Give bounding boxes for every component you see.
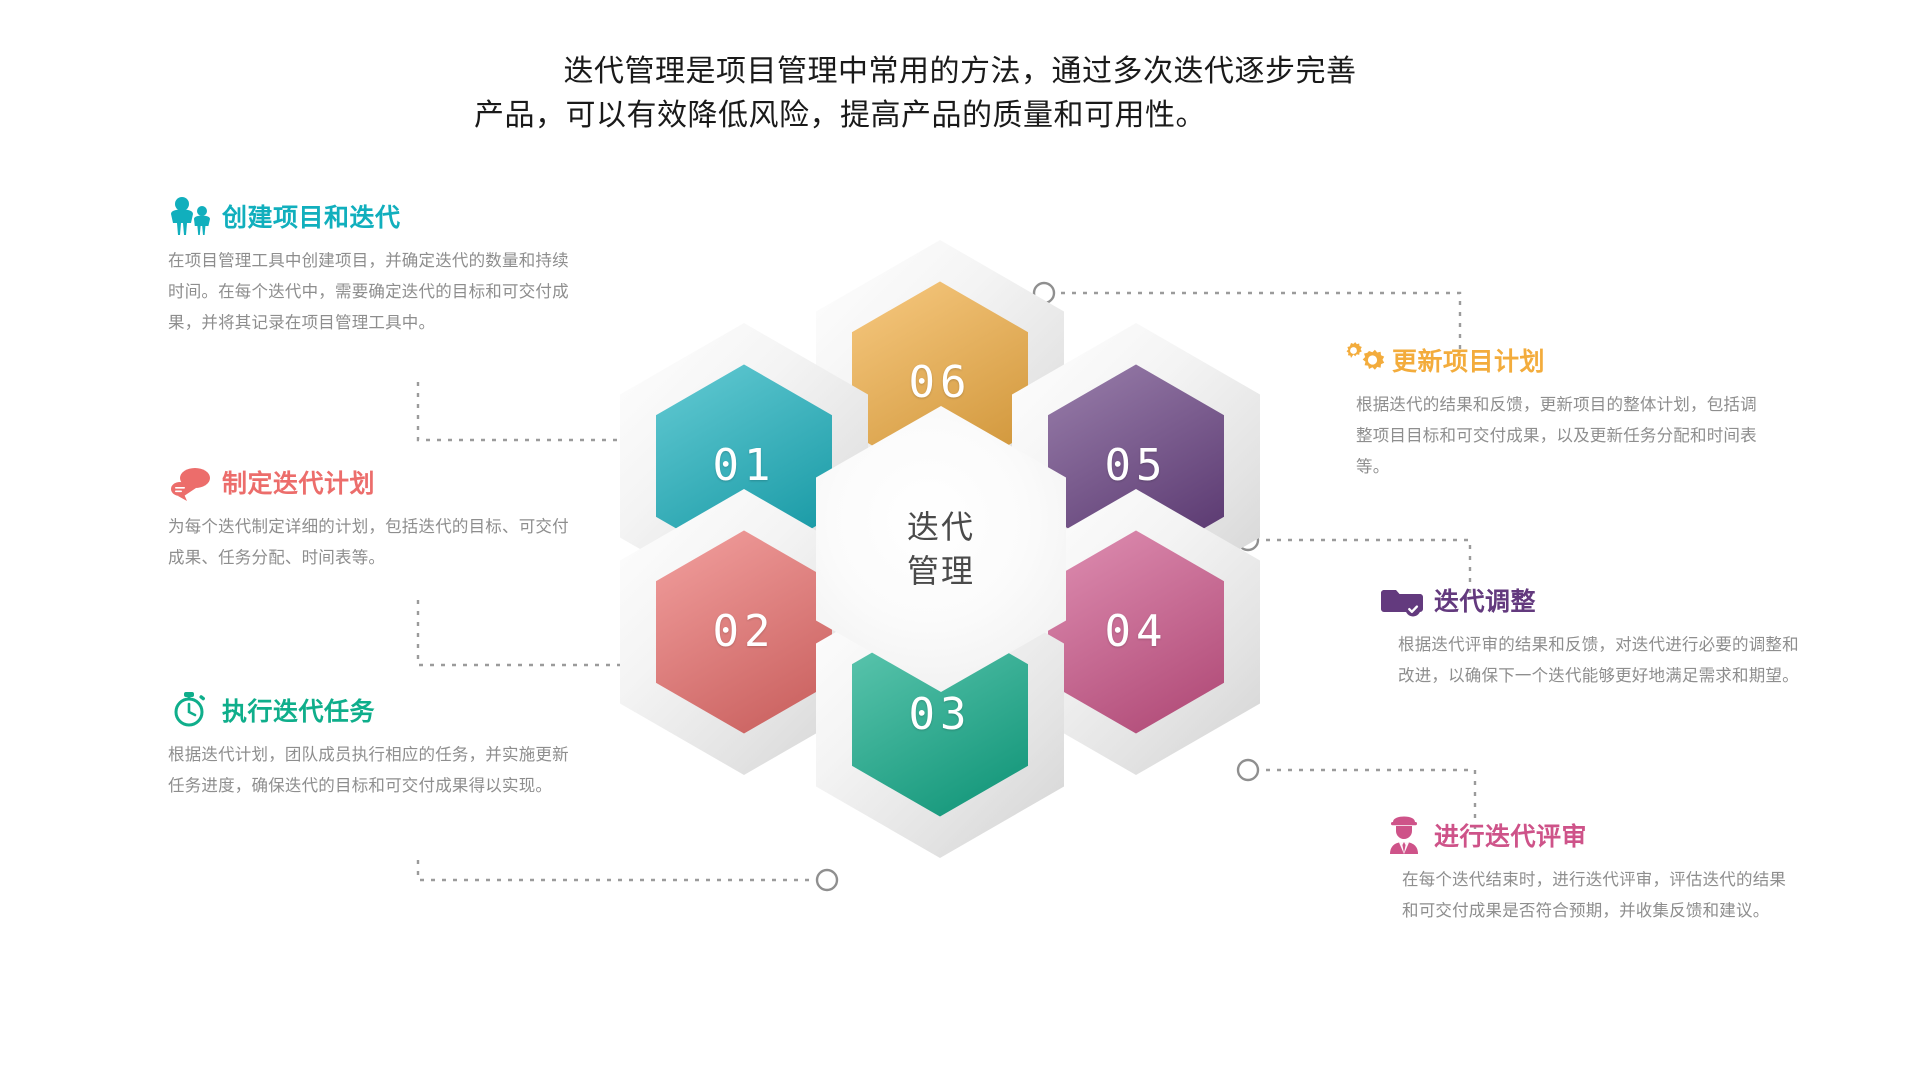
center-label-line2: 管理: [907, 549, 975, 593]
section-header: 迭代调整: [1372, 580, 1802, 620]
section-body: 根据迭代计划，团队成员执行相应的任务，并实施更新任务进度，确保迭代的目标和可交付…: [168, 740, 583, 802]
gears-icon: [1338, 340, 1380, 380]
speech-bubble-icon: [168, 462, 210, 502]
section-review: 进行迭代评审 在每个迭代结束时，进行迭代评审，评估迭代的结果和可交付成果是否符合…: [1372, 815, 1802, 927]
section-adjust: 迭代调整 根据迭代评审的结果和反馈，对迭代进行必要的调整和改进，以确保下一个迭代…: [1372, 580, 1802, 692]
stopwatch-icon: [168, 690, 210, 730]
hexagon-number: 03: [909, 689, 972, 740]
page-title-line2: 产品，可以有效降低风险，提高产品的质量和可用性。: [460, 94, 1460, 138]
section-header: 执行迭代任务: [168, 690, 583, 730]
page-title: 迭代管理是项目管理中常用的方法，通过多次迭代逐步完善 产品，可以有效降低风险，提…: [460, 50, 1460, 138]
section-plan: 制定迭代计划 为每个迭代制定详细的计划，包括迭代的目标、可交付成果、任务分配、时…: [168, 462, 583, 574]
section-header: 进行迭代评审: [1372, 815, 1802, 855]
connector-node-execute: [817, 870, 837, 890]
hexagon-number: 02: [713, 606, 776, 657]
page-title-line1: 迭代管理是项目管理中常用的方法，通过多次迭代逐步完善: [460, 50, 1460, 94]
hexagon-number: 01: [713, 440, 776, 491]
section-execute: 执行迭代任务 根据迭代计划，团队成员执行相应的任务，并实施更新任务进度，确保迭代…: [168, 690, 583, 802]
section-body: 根据迭代的结果和反馈，更新项目的整体计划，包括调整项目目标和可交付成果，以及更新…: [1330, 390, 1760, 483]
section-body: 根据迭代评审的结果和反馈，对迭代进行必要的调整和改进，以确保下一个迭代能够更好地…: [1372, 630, 1802, 692]
section-title: 进行迭代评审: [1434, 817, 1587, 853]
section-title: 制定迭代计划: [222, 464, 375, 500]
section-body: 为每个迭代制定详细的计划，包括迭代的目标、可交付成果、任务分配、时间表等。: [168, 512, 583, 574]
inspector-icon: [1380, 815, 1422, 855]
section-update: 更新项目计划 根据迭代的结果和反馈，更新项目的整体计划，包括调整项目目标和可交付…: [1330, 340, 1760, 483]
section-header: 更新项目计划: [1330, 340, 1760, 380]
hexagon-number: 05: [1105, 440, 1168, 491]
center-label-line1: 迭代: [907, 505, 975, 549]
section-create: 创建项目和迭代 在项目管理工具中创建项目，并确定迭代的数量和持续时间。在每个迭代…: [168, 196, 583, 339]
section-body: 在每个迭代结束时，进行迭代评审，评估迭代的结果和可交付成果是否符合预期，并收集反…: [1372, 865, 1802, 927]
section-title: 更新项目计划: [1392, 342, 1545, 378]
people-icon: [168, 196, 210, 236]
hexagon-cluster: 06 01 05 02 04: [620, 240, 1260, 860]
section-header: 制定迭代计划: [168, 462, 583, 502]
section-header: 创建项目和迭代: [168, 196, 583, 236]
section-title: 执行迭代任务: [222, 692, 375, 728]
section-title: 迭代调整: [1434, 582, 1536, 618]
section-title: 创建项目和迭代: [222, 198, 401, 234]
hexagon-number: 06: [909, 357, 972, 408]
section-body: 在项目管理工具中创建项目，并确定迭代的数量和持续时间。在每个迭代中，需要确定迭代…: [168, 246, 583, 339]
hexagon-number: 04: [1105, 606, 1168, 657]
infographic-canvas: 迭代管理是项目管理中常用的方法，通过多次迭代逐步完善 产品，可以有效降低风险，提…: [0, 0, 1920, 1079]
folder-check-icon: [1380, 580, 1422, 620]
